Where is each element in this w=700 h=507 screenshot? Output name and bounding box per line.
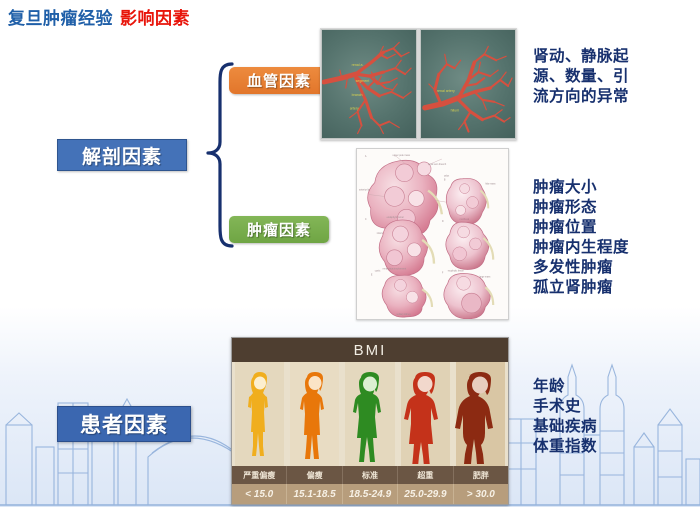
- svg-text:calyx: calyx: [444, 175, 450, 178]
- slide-canvas: 复旦肿瘤经验影响因素 解剖因素 血管因素 肿瘤因素 患者因素: [0, 0, 700, 507]
- svg-text:segment: segment: [356, 79, 370, 83]
- bmi-figure-4: [453, 372, 508, 466]
- svg-text:hilar mass: hilar mass: [485, 183, 496, 186]
- bmi-value-0: < 15.0: [232, 484, 287, 504]
- svg-text:D: D: [442, 220, 444, 223]
- bmi-figure-0: [232, 372, 287, 466]
- node-anatomy-label: 解剖因素: [82, 142, 162, 169]
- bmi-figure-2: [342, 372, 397, 466]
- node-patient-factors[interactable]: 患者因素: [57, 406, 191, 442]
- svg-text:cystic: cystic: [375, 270, 382, 273]
- svg-text:artery: artery: [350, 107, 359, 111]
- svg-text:multifocal: multifocal: [460, 218, 470, 221]
- node-patient-label: 患者因素: [80, 409, 168, 439]
- bmi-label-1: 偏瘦: [287, 466, 342, 484]
- bmi-value-2: 18.5-24.9: [343, 484, 398, 504]
- title-red-part: 影响因素: [120, 9, 190, 28]
- bmi-label-row: 严重偏瘦 偏瘦 标准 超重 肥胖: [232, 466, 508, 484]
- svg-text:upper pole mass: upper pole mass: [393, 154, 411, 157]
- svg-text:C: C: [365, 218, 367, 221]
- svg-text:hilum: hilum: [451, 109, 460, 113]
- svg-text:solitary kidney: solitary kidney: [396, 313, 411, 316]
- svg-text:large mass: large mass: [479, 275, 491, 278]
- bmi-chart: BMI: [231, 337, 509, 505]
- patient-factor-text: 年龄 手术史 基础疾病 体重指数: [533, 377, 693, 457]
- bmi-figure-3: [398, 372, 453, 466]
- svg-text:anterior lip: anterior lip: [359, 189, 371, 192]
- node-vessel-factors[interactable]: 血管因素: [229, 67, 329, 94]
- bmi-label-0: 严重偏瘦: [232, 466, 287, 484]
- svg-text:exophytic lesion: exophytic lesion: [448, 270, 465, 273]
- bmi-value-row: < 15.0 15.1-18.5 18.5-24.9 25.0-29.9 > 3…: [232, 484, 508, 504]
- bmi-column-4: [453, 362, 508, 466]
- vascular-cast-photo-left: renal a. segment branch artery: [321, 29, 417, 139]
- slide-title: 复旦肿瘤经验影响因素: [8, 4, 190, 29]
- svg-text:branch: branch: [352, 93, 363, 97]
- svg-text:endophytic tumor: endophytic tumor: [387, 216, 405, 219]
- node-tumor-label: 肿瘤因素: [247, 219, 311, 240]
- svg-text:renal sinus involvement: renal sinus involvement: [383, 268, 407, 271]
- node-vessel-label: 血管因素: [247, 70, 311, 91]
- node-tumor-factors[interactable]: 肿瘤因素: [229, 216, 329, 243]
- node-anatomy-factors[interactable]: 解剖因素: [57, 139, 187, 171]
- bmi-label-2: 标准: [343, 466, 398, 484]
- bmi-value-1: 15.1-18.5: [287, 484, 342, 504]
- bmi-column-3: [398, 362, 453, 466]
- title-blue-part: 复旦肿瘤经验: [8, 9, 113, 28]
- bmi-label-3: 超重: [398, 466, 453, 484]
- bmi-column-0: [232, 362, 287, 466]
- svg-text:renal a.: renal a.: [352, 63, 364, 67]
- bmi-figures-row: [232, 362, 508, 466]
- bmi-figure-1: [287, 372, 342, 466]
- kidney-tumor-illustration: A upper pole mass renal vein branch ante…: [356, 148, 509, 320]
- bmi-value-3: 25.0-29.9: [398, 484, 453, 504]
- bmi-chart-title: BMI: [232, 338, 508, 362]
- svg-text:renal vein branch: renal vein branch: [428, 163, 447, 166]
- tumor-factor-text: 肿瘤大小 肿瘤形态 肿瘤位置 肿瘤内生程度 多发性肿瘤 孤立肾肿瘤: [533, 178, 693, 298]
- vascular-cast-photo: renal a. segment branch artery: [320, 28, 517, 140]
- bmi-column-2: [342, 362, 397, 466]
- svg-text:renal artery: renal artery: [437, 89, 455, 93]
- bmi-value-4: > 30.0: [454, 484, 508, 504]
- vessel-factor-text: 肾动、静脉起 源、数量、引 流方向的异常: [533, 47, 693, 107]
- bmi-label-4: 肥胖: [454, 466, 508, 484]
- vascular-cast-photo-right: renal artery hilum: [420, 29, 516, 139]
- bmi-column-1: [287, 362, 342, 466]
